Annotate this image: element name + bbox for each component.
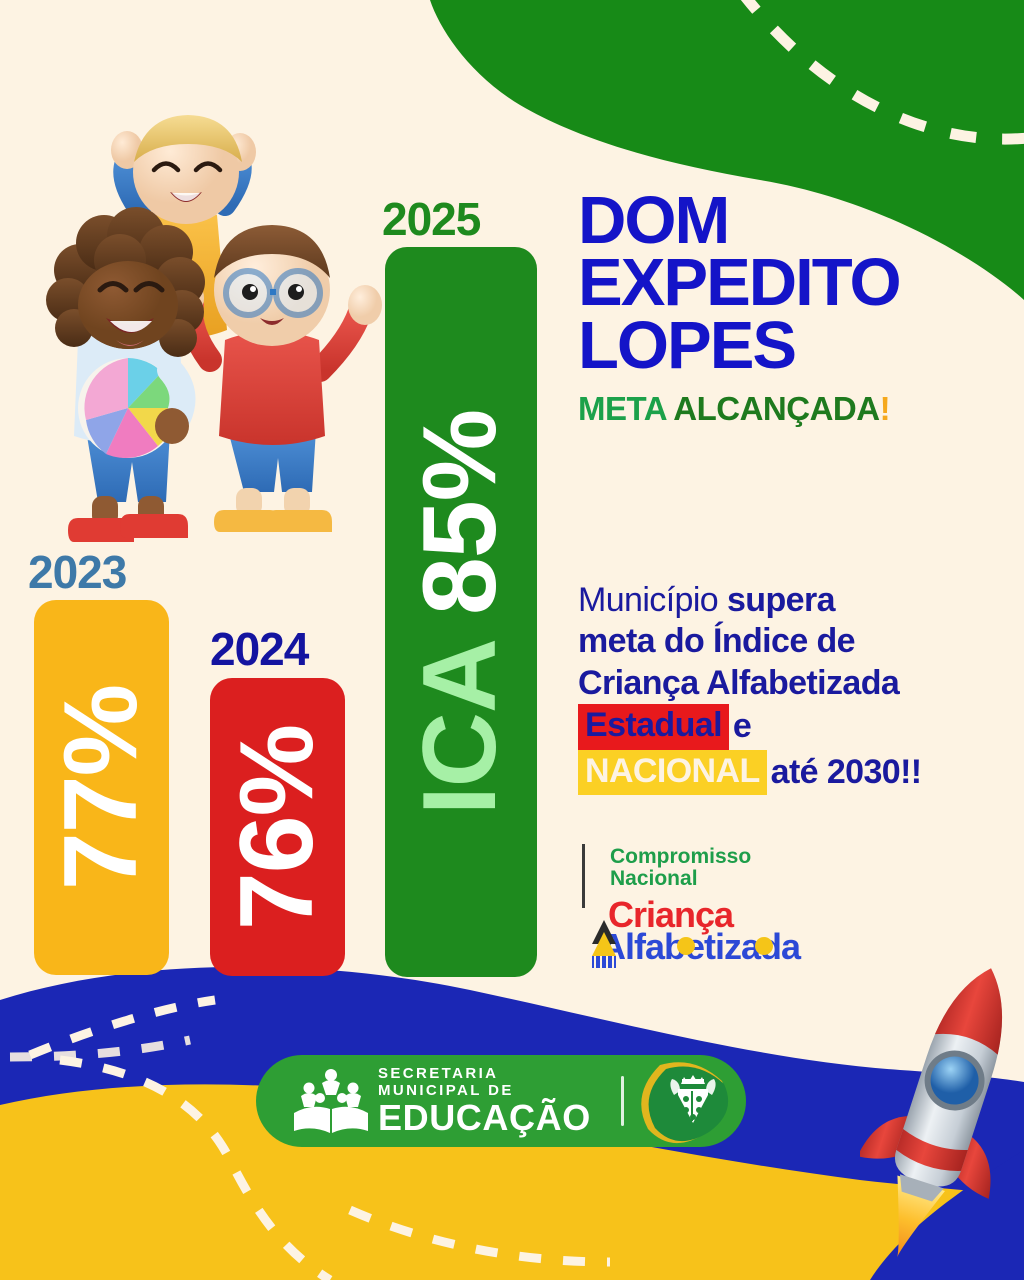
bar-value-2025: ICA 85% — [402, 409, 521, 814]
kid-curly — [46, 207, 205, 542]
footer-badge[interactable]: SECRETARIA MUNICIPAL DE EDUCAÇÃO — [256, 1055, 746, 1147]
headline-block: DOM EXPEDITO LOPES META ALCANÇADA! — [578, 190, 1018, 428]
secretaria-text-block: SECRETARIA MUNICIPAL DE EDUCAÇÃO — [378, 1065, 603, 1137]
body-copy-block: Município supera meta do Índice de Crian… — [578, 580, 1023, 795]
subtitle-meta: META — [578, 390, 666, 427]
poster-canvas: 2023 77% 2024 76% 2025 ICA 85% — [0, 0, 1024, 1280]
headline-line-3: LOPES — [578, 315, 1018, 377]
bar-2025: ICA 85% — [385, 247, 537, 977]
body-copy-line-3: Criança Alfabetizada — [578, 663, 1023, 704]
secretaria-big-label: EDUCAÇÃO — [378, 1099, 603, 1137]
page-title: DOM EXPEDITO LOPES — [578, 190, 1018, 377]
logo-compromisso: Compromisso — [610, 846, 751, 868]
badge-divider — [621, 1076, 624, 1126]
logo-nacional: Nacional — [610, 868, 751, 890]
body-copy-connector: e — [733, 706, 751, 747]
bar-value-2024: 76% — [218, 724, 337, 929]
bar-2024: 76% — [210, 678, 345, 976]
highlight-nacional: NACIONAL — [578, 750, 767, 795]
bar-year-label-2025: 2025 — [382, 192, 480, 246]
bar-year-label-2024: 2024 — [210, 622, 308, 676]
logo-alfabetizada: Alfabetizada — [600, 926, 800, 968]
bar-value-number-2025: 85% — [403, 409, 519, 614]
subtitle-alcancada: ALCANÇADA — [666, 390, 880, 427]
body-copy-supera: supera — [727, 580, 835, 621]
body-copy-line-1: Município supera — [578, 580, 1023, 621]
kids-illustration — [20, 100, 390, 550]
body-copy-ate-2030: até 2030!! — [771, 752, 922, 793]
bar-value-2023: 77% — [42, 685, 161, 890]
headline-line-1: DOM — [578, 190, 1018, 252]
body-copy-line-4: Estadual e — [578, 704, 1023, 749]
bar-year-label-2023: 2023 — [28, 545, 126, 599]
logo-compromisso-nacional: Compromisso Nacional — [610, 846, 751, 890]
subtitle-meta-alcancada: META ALCANÇADA! — [578, 390, 1018, 428]
crianca-alfabetizada-logo: Compromisso Nacional Criança Alfabetizad… — [582, 840, 882, 970]
subtitle-exclamation: ! — [880, 390, 891, 427]
body-copy-line-5: NACIONAL até 2030!! — [578, 750, 1023, 795]
body-copy-municipio: Município — [578, 580, 718, 621]
pencil-icon — [580, 918, 628, 970]
rocket-illustration — [860, 955, 1024, 1265]
secretaria-small-label: SECRETARIA MUNICIPAL DE — [378, 1065, 603, 1099]
bar-value-prefix-2025: ICA — [403, 615, 519, 815]
highlight-estadual: Estadual — [578, 704, 729, 749]
coat-of-arms-icon — [640, 1055, 740, 1147]
logo-vertical-rule — [582, 844, 585, 908]
body-copy-line-2: meta do Índice de — [578, 621, 1023, 662]
headline-line-2: EXPEDITO — [578, 252, 1018, 314]
bar-2023: 77% — [34, 600, 169, 975]
education-book-people-icon — [292, 1065, 370, 1137]
